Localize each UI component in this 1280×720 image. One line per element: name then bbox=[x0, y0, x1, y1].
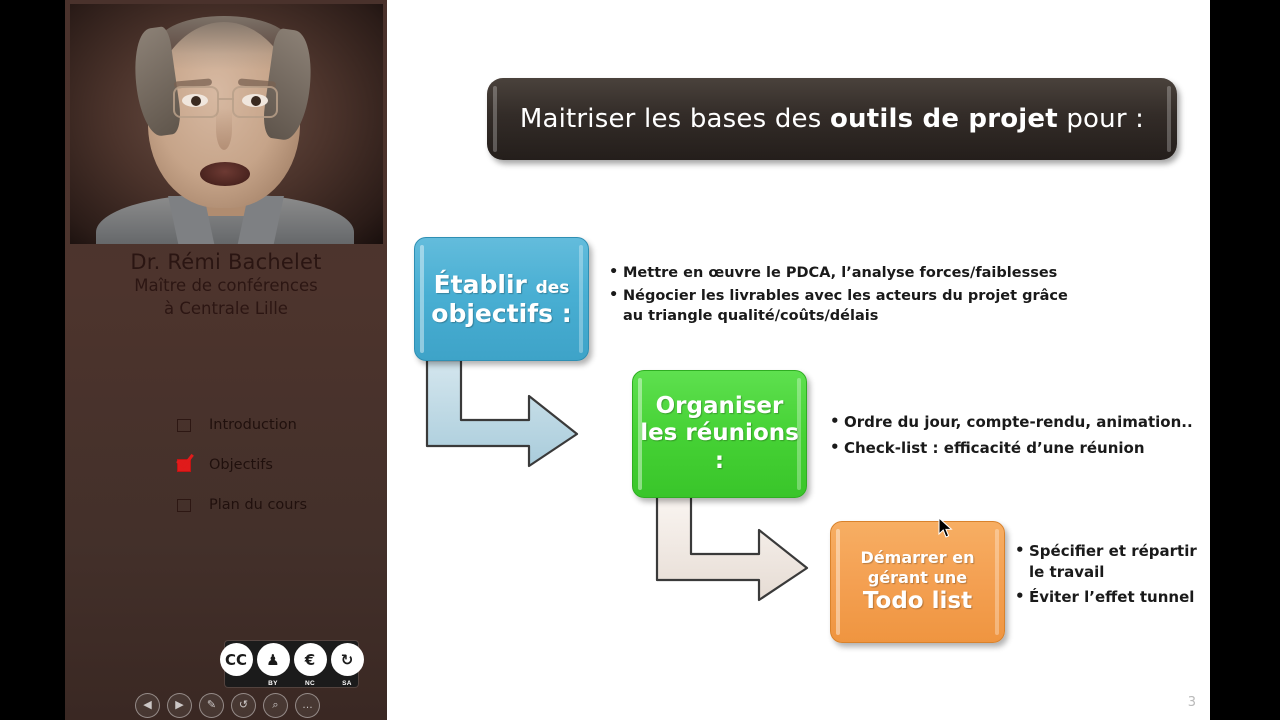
page-title: Maitriser les bases des outils de projet… bbox=[520, 104, 1144, 134]
glasses-lens-right-icon bbox=[232, 86, 278, 118]
bullets-objectifs: Mettre en œuvre le PDCA, l’analyse force… bbox=[609, 263, 1079, 329]
checkbox-icon[interactable] bbox=[177, 419, 191, 432]
sidebar-item-label: Introduction bbox=[209, 417, 297, 433]
arrow-blue-elbow-icon bbox=[425, 358, 595, 468]
node-todo-list[interactable]: Démarrer en gérant une Todo list bbox=[830, 521, 1005, 643]
node-green-line1: Organiser bbox=[656, 393, 784, 419]
creative-commons-badge[interactable]: CC ♟ BY € NC ↻ SA bbox=[225, 641, 358, 687]
bullet-item: Check-list : efficacité d’une réunion bbox=[830, 437, 1210, 460]
node-orange-line3: Todo list bbox=[863, 588, 972, 614]
cc-by-wrap: ♟ BY bbox=[257, 643, 290, 685]
node-orange-line1: Démarrer en bbox=[861, 548, 975, 567]
bullets-todo: Spécifier et répartir le travail Éviter … bbox=[1015, 541, 1215, 611]
node-orange-text: Démarrer en gérant une Todo list bbox=[861, 548, 975, 615]
node-green-text: Organiser les réunions : bbox=[633, 393, 806, 474]
glasses-lens-left-icon bbox=[173, 86, 219, 118]
cc-nc-wrap: € NC bbox=[294, 643, 327, 685]
presenter-video-feed[interactable] bbox=[70, 4, 383, 244]
presenter-nose bbox=[216, 108, 232, 150]
sidebar-item-label: Objectifs bbox=[209, 457, 273, 473]
bullets-reunions: Ordre du jour, compte-rendu, animation..… bbox=[830, 411, 1210, 463]
presenter-name: Dr. Rémi Bachelet bbox=[65, 250, 387, 274]
node-orange-line2: gérant une bbox=[868, 568, 967, 587]
checkbox-checked-icon[interactable] bbox=[177, 459, 191, 472]
sidebar-item-objectifs[interactable]: Objectifs bbox=[177, 445, 387, 485]
mouse-cursor-icon bbox=[938, 517, 954, 539]
player-control-bar: ◀ ▶ ✎ ↺ ⌕ … bbox=[131, 690, 331, 720]
sidebar-item-introduction[interactable]: Introduction bbox=[177, 405, 387, 445]
cc-by-person-icon: ♟ bbox=[257, 643, 290, 676]
search-button[interactable]: ⌕ bbox=[263, 693, 288, 718]
page-number: 3 bbox=[1188, 695, 1196, 710]
bullet-item: Spécifier et répartir le travail bbox=[1015, 541, 1215, 584]
checkbox-icon[interactable] bbox=[177, 499, 191, 512]
cc-sa-label: SA bbox=[331, 680, 364, 687]
node-blue-line2: objectifs : bbox=[431, 299, 571, 328]
play-button[interactable]: ▶ bbox=[167, 693, 192, 718]
sidebar-item-label: Plan du cours bbox=[209, 497, 307, 513]
presenter-mouth bbox=[200, 162, 250, 186]
title-prefix: Maitriser les bases des bbox=[520, 104, 830, 134]
bullet-item: Éviter l’effet tunnel bbox=[1015, 587, 1215, 608]
cc-nc-label: NC bbox=[294, 680, 327, 687]
title-emphasis: outils de projet bbox=[830, 104, 1058, 134]
bullet-item: Négocier les livrables avec les acteurs … bbox=[609, 286, 1079, 326]
presenter-info: Dr. Rémi Bachelet Maître de conférences … bbox=[65, 250, 387, 321]
arrow-beige-elbow-icon bbox=[655, 494, 825, 602]
bullet-item: Ordre du jour, compte-rendu, animation.. bbox=[830, 411, 1210, 434]
node-blue-text: Établir des objectifs : bbox=[431, 270, 571, 329]
glasses-bridge-icon bbox=[218, 98, 234, 100]
pen-button[interactable]: ✎ bbox=[199, 693, 224, 718]
more-options-button[interactable]: … bbox=[295, 693, 320, 718]
sidebar-item-plan-du-cours[interactable]: Plan du cours bbox=[177, 485, 387, 525]
course-outline-nav: Introduction Objectifs Plan du cours bbox=[177, 405, 387, 525]
title-suffix: pour : bbox=[1058, 104, 1144, 134]
cc-by-label: BY bbox=[257, 680, 290, 687]
previous-button[interactable]: ◀ bbox=[135, 693, 160, 718]
slide-title-banner: Maitriser les bases des outils de projet… bbox=[487, 78, 1177, 160]
screen-root: Dr. Rémi Bachelet Maître de conférences … bbox=[0, 0, 1280, 720]
node-organiser-reunions[interactable]: Organiser les réunions : bbox=[632, 370, 807, 498]
creative-commons-icon: CC bbox=[220, 643, 253, 676]
node-blue-line1: Établir bbox=[434, 270, 527, 299]
slide-canvas: Maitriser les bases des outils de projet… bbox=[387, 0, 1210, 720]
node-blue-line1-small: des bbox=[536, 278, 570, 298]
node-green-line2: les réunions : bbox=[640, 420, 799, 473]
cc-sa-wrap: ↻ SA bbox=[331, 643, 364, 685]
presenter-affiliation: à Centrale Lille bbox=[65, 297, 387, 320]
refresh-button[interactable]: ↺ bbox=[231, 693, 256, 718]
cc-logo-wrap: CC bbox=[220, 643, 253, 685]
node-etablir-objectifs[interactable]: Établir des objectifs : bbox=[414, 237, 589, 361]
bullet-item: Mettre en œuvre le PDCA, l’analyse force… bbox=[609, 263, 1079, 283]
presenter-sidebar: Dr. Rémi Bachelet Maître de conférences … bbox=[65, 0, 387, 720]
cc-sa-sharealike-icon: ↻ bbox=[331, 643, 364, 676]
presenter-role: Maître de conférences bbox=[65, 274, 387, 297]
cc-nc-nocommercial-icon: € bbox=[294, 643, 327, 676]
